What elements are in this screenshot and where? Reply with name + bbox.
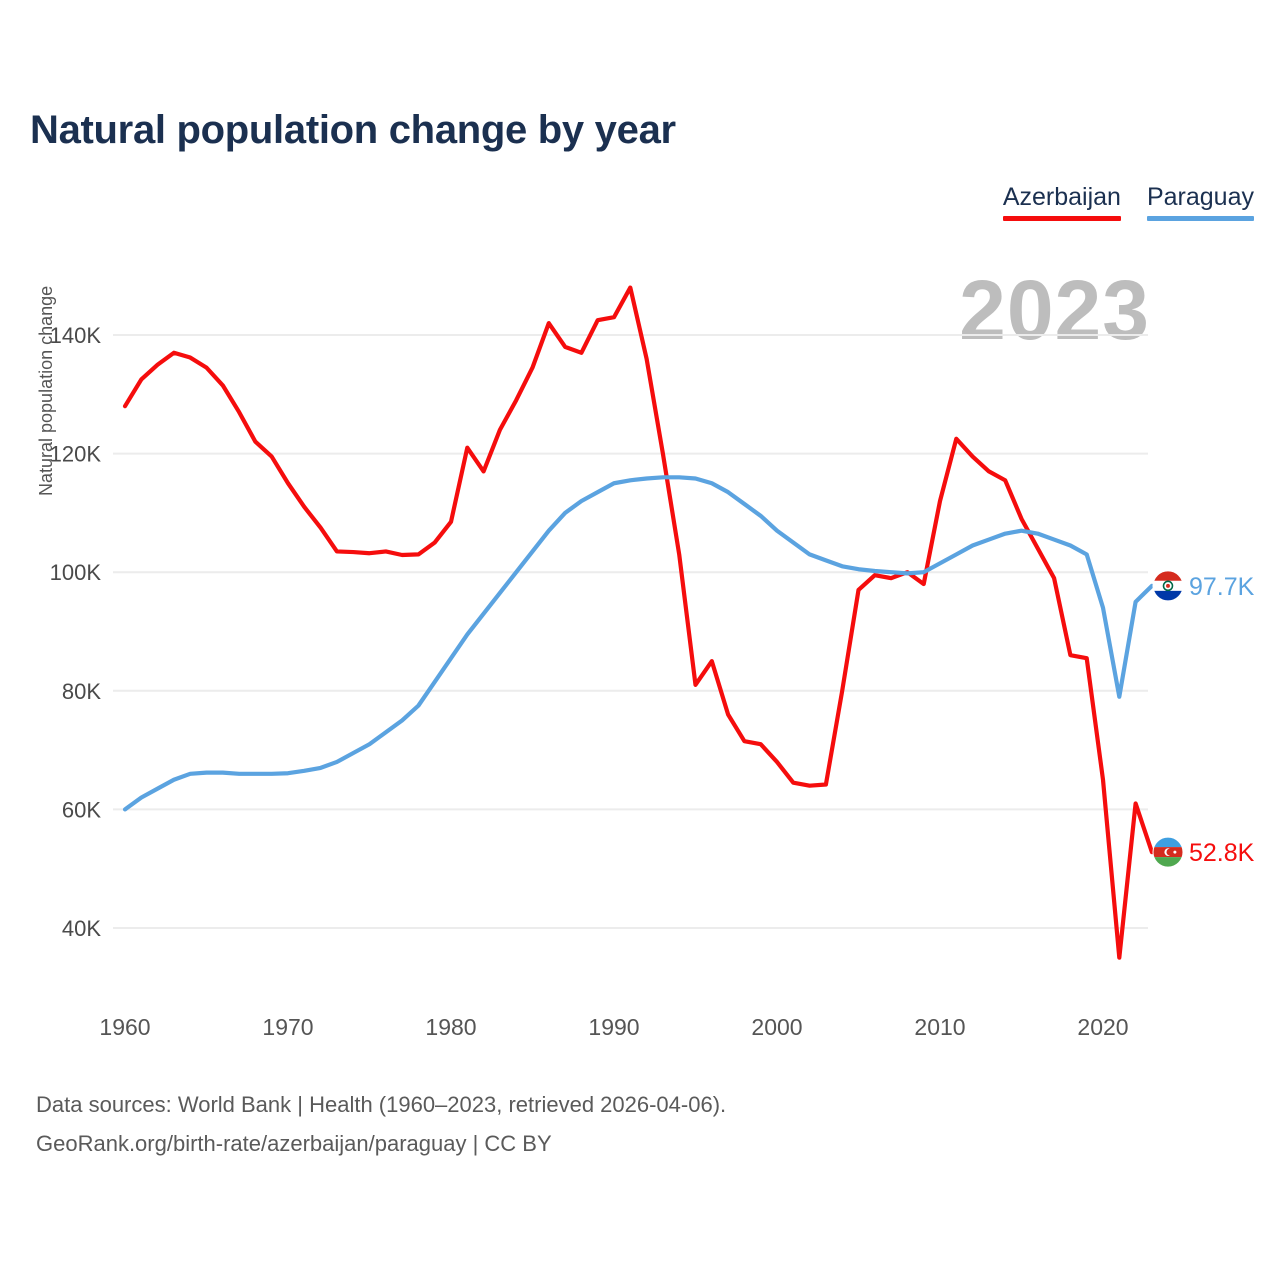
footer-line-sources: Data sources: World Bank | Health (1960–… (36, 1086, 726, 1125)
series-lines (125, 288, 1152, 958)
gridlines (113, 335, 1148, 928)
paraguay-flag-icon (1153, 571, 1183, 601)
end-markers: 97.7K52.8K (1153, 571, 1255, 867)
y-tick-label: 80K (62, 679, 101, 704)
footer-line-attribution[interactable]: GeoRank.org/birth-rate/azerbaijan/paragu… (36, 1125, 726, 1164)
y-tick-label: 40K (62, 916, 101, 941)
x-tick-label: 1990 (588, 1014, 639, 1040)
series-line-paraguay (125, 477, 1152, 809)
end-label-azerbaijan: 52.8K (1189, 839, 1255, 867)
end-label-paraguay: 97.7K (1189, 573, 1255, 601)
x-axis-ticks: 1960197019801990200020102020 (99, 1014, 1128, 1040)
azerbaijan-flag-icon (1153, 837, 1183, 867)
y-tick-label: 120K (50, 442, 102, 467)
x-tick-label: 2000 (751, 1014, 802, 1040)
y-tick-label: 100K (50, 560, 102, 585)
footer: Data sources: World Bank | Health (1960–… (36, 1086, 726, 1163)
series-line-azerbaijan (125, 288, 1152, 958)
x-tick-label: 2020 (1077, 1014, 1128, 1040)
y-tick-label: 140K (50, 323, 102, 348)
y-axis-ticks: 40K60K80K100K120K140K (50, 323, 102, 941)
x-tick-label: 1970 (262, 1014, 313, 1040)
x-tick-label: 1980 (425, 1014, 476, 1040)
x-tick-label: 2010 (914, 1014, 965, 1040)
x-tick-label: 1960 (99, 1014, 150, 1040)
y-tick-label: 60K (62, 797, 101, 822)
chart-root: Natural population change by year Azerba… (0, 0, 1280, 1280)
